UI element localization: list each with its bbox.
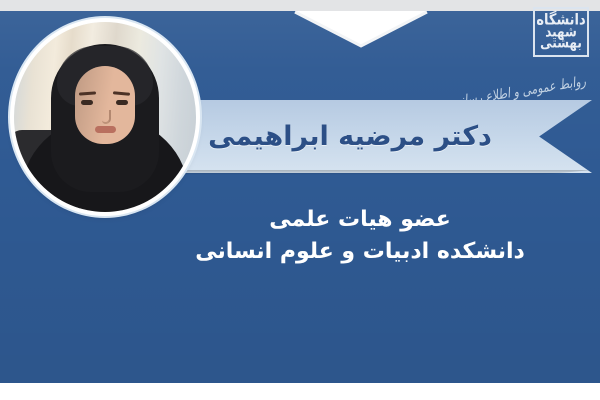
- portrait-eye-left: [81, 100, 93, 105]
- subtitle-line-2: دانشکده ادبیات و علوم انسانی: [150, 237, 570, 267]
- logo-emblem-box: دانشگاه شهید بهشتی: [533, 7, 589, 57]
- person-name: دکتر مرضیه ابراهیمی: [150, 100, 550, 173]
- faculty-profile-card: دانشگاه شهید بهشتی روابط عمومی و اطلاع ر…: [0, 0, 600, 400]
- portrait-eye-right: [116, 100, 128, 105]
- bottom-white-band: [0, 383, 600, 400]
- portrait-photo: [14, 22, 196, 212]
- subtitle-block: عضو هیات علمی دانشکده ادبیات و علوم انسا…: [150, 205, 570, 266]
- avatar: [14, 22, 196, 212]
- portrait-lips: [95, 126, 116, 133]
- portrait-nose: [102, 110, 111, 124]
- university-logo: دانشگاه شهید بهشتی روابط عمومی و اطلاع ر…: [487, 5, 591, 89]
- logo-line-3: بهشتی: [540, 37, 582, 50]
- subtitle-line-1: عضو هیات علمی: [150, 205, 570, 235]
